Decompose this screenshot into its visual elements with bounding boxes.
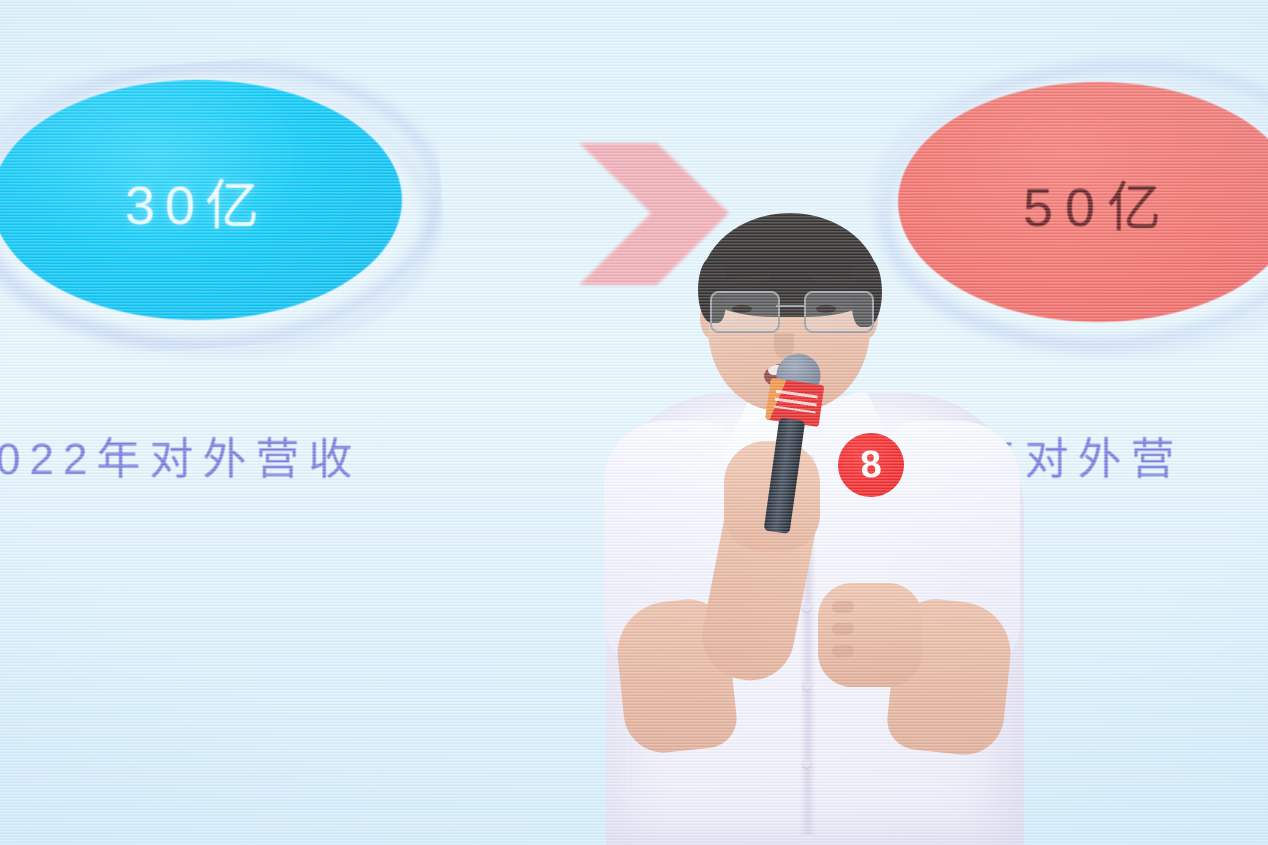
knuckle	[832, 645, 854, 657]
microphone-flag-text	[774, 390, 818, 414]
eyeglasses-icon	[706, 291, 876, 331]
knuckle	[832, 601, 854, 613]
speaker-person: 8	[596, 205, 1026, 845]
eyeglass-lens-right	[804, 291, 874, 333]
shirt-button	[802, 759, 811, 768]
shirt-button	[802, 603, 811, 612]
eye-right	[816, 305, 836, 313]
left-metric-value: 30亿	[125, 161, 269, 240]
eye-left	[732, 305, 752, 313]
knuckle	[832, 623, 854, 635]
microphone-handle	[764, 417, 806, 534]
eyeglass-bridge	[776, 305, 804, 307]
screenshot-canvas: 30亿 022年对外营收 50亿 3年对外营	[0, 0, 1268, 845]
shirt-button	[802, 681, 811, 690]
right-metric-value: 50亿	[1023, 163, 1173, 242]
left-metric-caption: 022年对外营收	[0, 423, 361, 487]
left-metric-ellipse: 30亿	[0, 80, 402, 320]
number-badge-label: 8	[859, 445, 883, 484]
clenched-fist	[818, 583, 922, 687]
